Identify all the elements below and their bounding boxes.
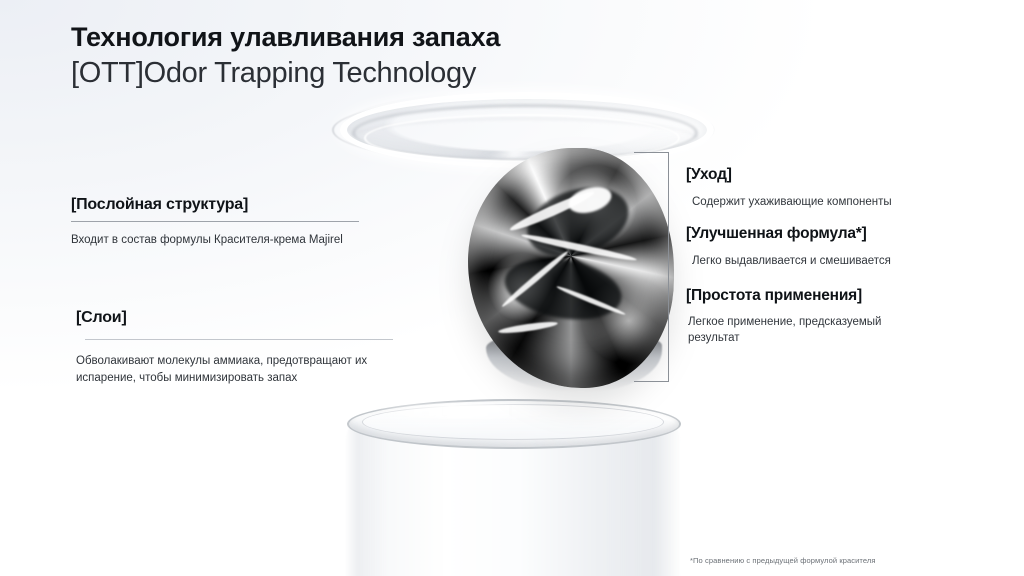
jar-rim-highlight — [372, 403, 572, 419]
blob-highlight-2 — [521, 232, 638, 263]
info-block-layered-structure: [Послойная структура] Входит в состав фо… — [71, 196, 371, 249]
heading-divider — [71, 221, 359, 222]
blob-highlight-6 — [498, 320, 558, 335]
info-block-ease-of-use: [Простота применения] Легкое применение,… — [686, 287, 966, 347]
white-jar-container — [345, 420, 681, 576]
page-title: Технология улавливания запаха [OTT]Odor … — [71, 22, 500, 91]
right-bracket-connector — [634, 152, 669, 382]
info-block-heading: [Улучшенная формула*] — [686, 225, 966, 243]
lid-halo-sweep — [344, 90, 700, 160]
page-title-ru: Технология улавливания запаха — [71, 22, 500, 54]
blob-shadow-1 — [519, 175, 638, 268]
info-block-heading: [Послойная структура] — [71, 196, 371, 214]
lid-halo-ring-4 — [364, 114, 680, 162]
slide-canvas: Технология улавливания запаха [OTT]Odor … — [0, 0, 1024, 576]
info-block-body: Обволакивают молекулы аммиака, предотвра… — [76, 353, 476, 386]
info-block-care: [Уход] Содержит ухаживающие компоненты — [686, 166, 966, 210]
info-block-body: Легкое применение, предсказуемый результ… — [688, 314, 966, 347]
heading-divider — [85, 339, 393, 340]
jar-rim-inner-icon — [362, 404, 664, 440]
info-block-layers: [Слои] Обволакивают молекулы аммиака, пр… — [76, 309, 476, 386]
info-block-heading: [Простота применения] — [686, 287, 966, 305]
jar-rim-icon — [347, 399, 681, 449]
blob-highlight-5 — [566, 182, 615, 217]
blob-highlight-3 — [500, 249, 570, 309]
info-block-improved-formula: [Улучшенная формула*] Легко выдавливаетс… — [686, 225, 966, 269]
info-block-body: Содержит ухаживающие компоненты — [692, 194, 966, 210]
page-title-en: [OTT]Odor Trapping Technology — [71, 56, 500, 91]
blob-highlight-4 — [556, 284, 626, 316]
footnote: *По сравнению с предыдущей формулой крас… — [690, 556, 876, 565]
info-block-heading: [Уход] — [686, 166, 966, 184]
info-block-body: Входит в состав формулы Красителя-крема … — [71, 232, 371, 249]
info-block-body: Легко выдавливается и смешивается — [692, 253, 966, 269]
blob-highlight-1 — [508, 188, 596, 235]
info-block-heading: [Слои] — [76, 309, 476, 327]
blob-shadow-2 — [500, 250, 626, 328]
